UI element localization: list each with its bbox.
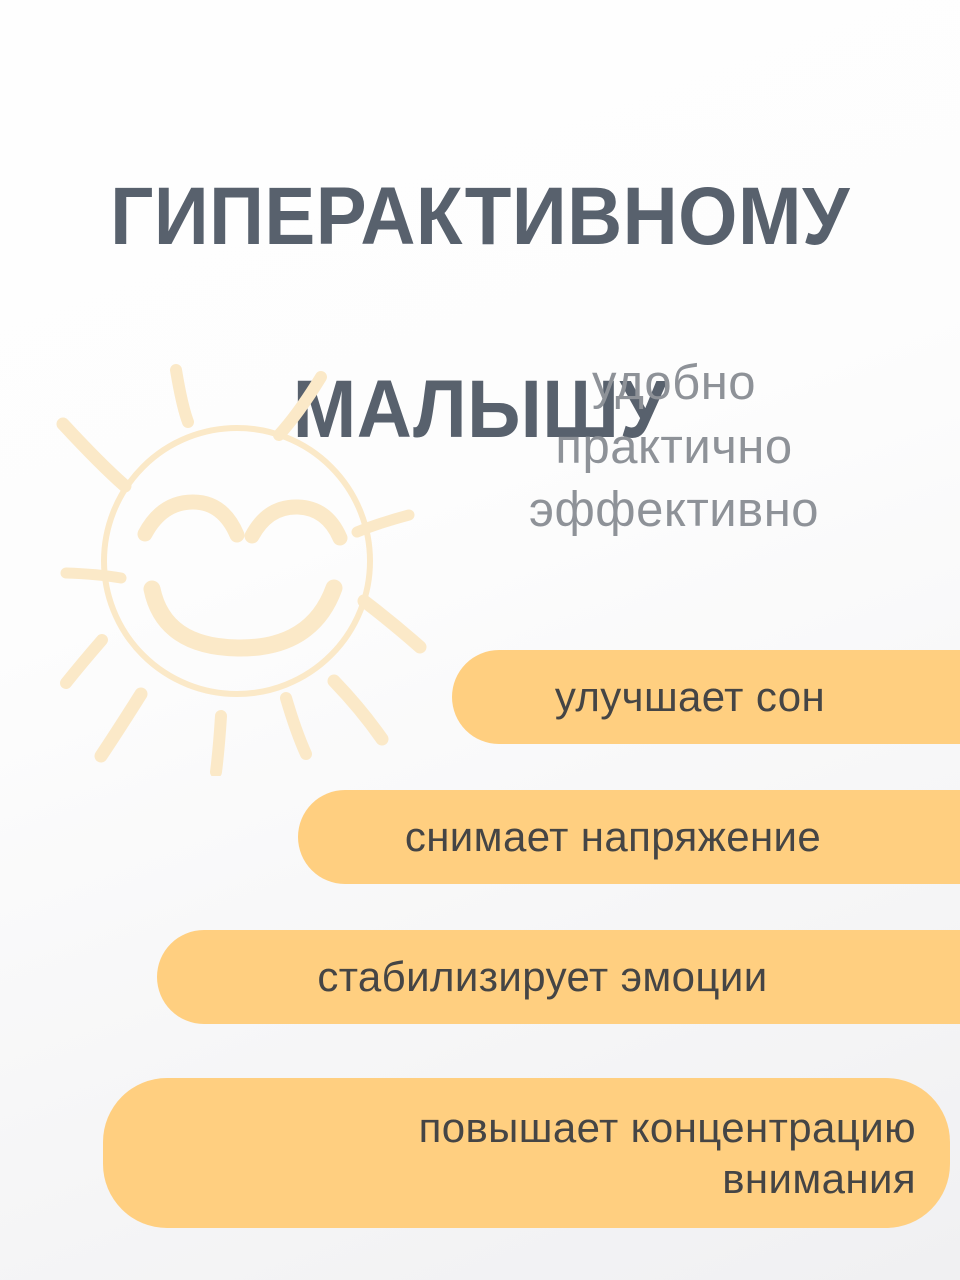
- benefit-pill-4[interactable]: повышает концентрацию внимания: [103, 1078, 950, 1228]
- benefit-pill-4-label: повышает концентрацию внимания: [143, 1102, 916, 1204]
- benefit-pill-2[interactable]: снимает напряжение: [298, 790, 960, 884]
- benefit-pill-3[interactable]: стабилизирует эмоции: [157, 930, 960, 1024]
- benefit-pill-3-label: стабилизирует эмоции: [157, 951, 928, 1002]
- benefit-pill-2-label: снимает напряжение: [298, 811, 928, 862]
- benefit-pill-1-label: улучшает сон: [452, 671, 928, 722]
- subtitle-line-2: практично: [414, 416, 934, 480]
- page-title-line-1: ГИПЕРАКТИВНОМУ: [34, 169, 927, 266]
- subtitle-line-3: эффективно: [414, 479, 934, 543]
- poster-canvas: ГИПЕРАКТИВНОМУ МАЛЫШУ удобно практично э…: [0, 0, 960, 1280]
- subtitle-line-1: удобно: [414, 352, 934, 416]
- benefit-pill-1[interactable]: улучшает сон: [452, 650, 960, 744]
- subtitle: удобно практично эффективно: [414, 352, 934, 543]
